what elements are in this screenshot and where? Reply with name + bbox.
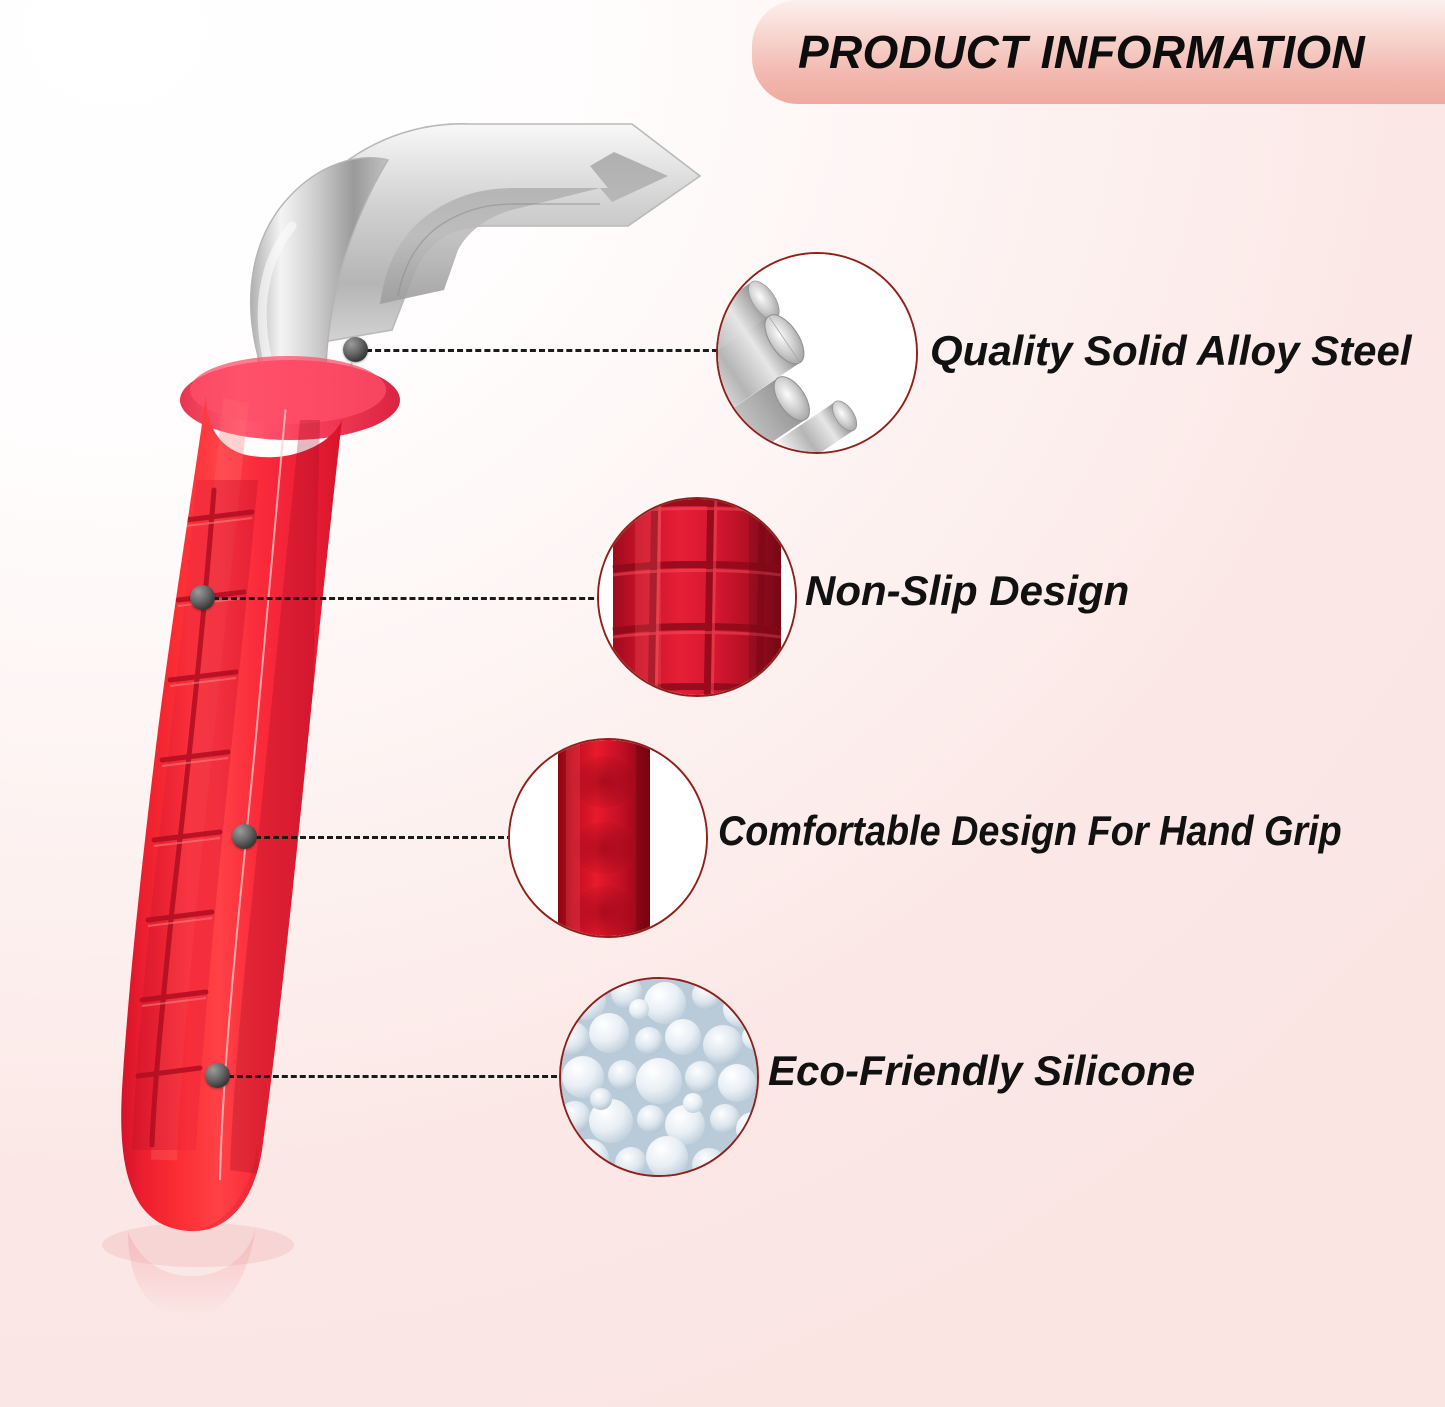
infographic-canvas: PRODUCT INFORMATION bbox=[0, 0, 1445, 1407]
silicone-pellets-icon bbox=[561, 979, 759, 1177]
leader-line-alloy-steel bbox=[366, 349, 718, 352]
callout-dot-alloy-steel bbox=[343, 337, 368, 362]
leader-line-hand-grip bbox=[255, 836, 513, 839]
textured-grip-icon bbox=[599, 499, 797, 697]
leader-line-eco-silicone bbox=[228, 1075, 566, 1078]
header-banner: PRODUCT INFORMATION bbox=[752, 0, 1445, 104]
callout-dot-eco-silicone bbox=[205, 1063, 230, 1088]
callout-bubble-hand-grip bbox=[508, 738, 708, 938]
callout-dot-hand-grip bbox=[232, 824, 257, 849]
feature-label-hand-grip: Comfortable Design For Hand Grip bbox=[718, 810, 1342, 852]
page-title: PRODUCT INFORMATION bbox=[798, 25, 1365, 79]
leader-line-non-slip bbox=[213, 597, 603, 600]
feature-label-non-slip: Non-Slip Design bbox=[805, 570, 1129, 612]
callout-dot-non-slip bbox=[190, 585, 215, 610]
callout-bubble-eco-silicone bbox=[559, 977, 759, 1177]
handle-closeup-icon bbox=[510, 740, 708, 938]
callout-bubble-alloy-steel bbox=[716, 252, 918, 454]
feature-label-alloy-steel: Quality Solid Alloy Steel bbox=[930, 330, 1412, 372]
feature-label-eco-silicone: Eco-Friendly Silicone bbox=[768, 1050, 1195, 1092]
steel-rods-icon bbox=[718, 254, 918, 454]
callout-bubble-non-slip bbox=[597, 497, 797, 697]
